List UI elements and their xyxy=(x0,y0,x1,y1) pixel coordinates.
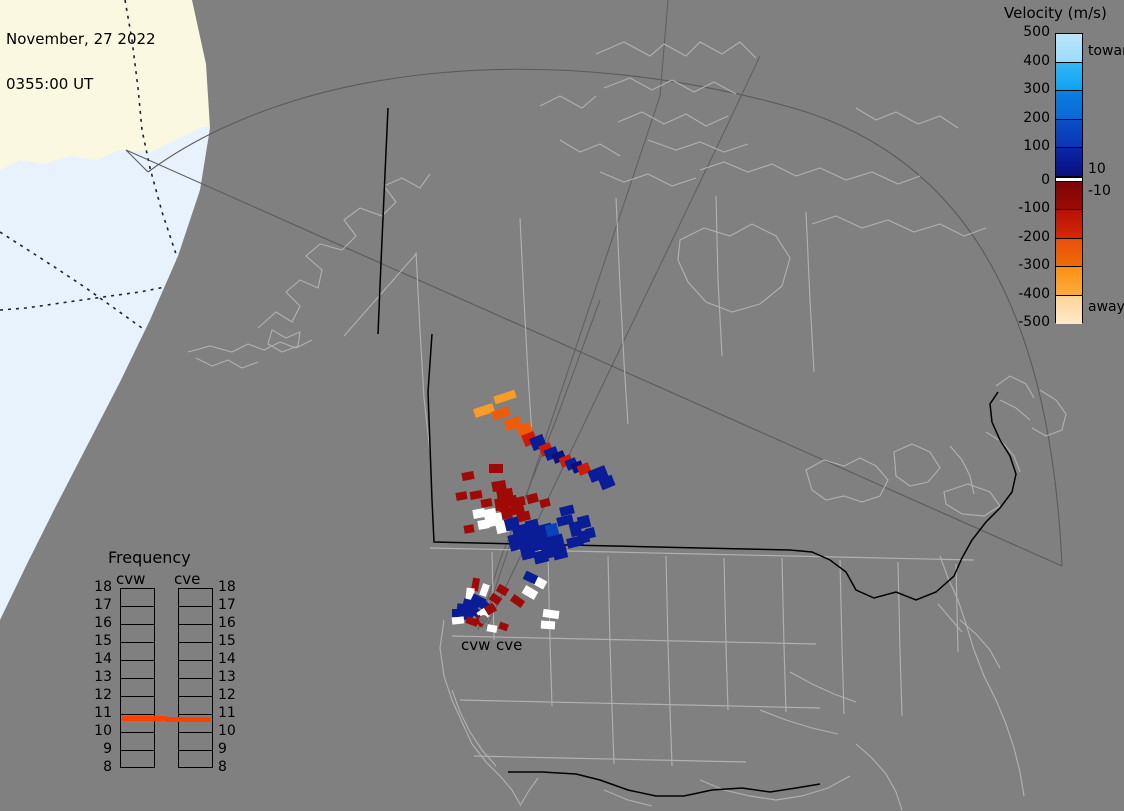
frequency-cell xyxy=(179,607,212,625)
velocity-band xyxy=(1056,296,1082,325)
velocity-gate xyxy=(496,584,510,596)
frequency-marker-cvw xyxy=(122,716,167,721)
velocity-band xyxy=(1056,34,1082,63)
frequency-cell xyxy=(121,733,154,751)
frequency-column-header-cve: cve xyxy=(174,570,200,588)
frequency-cell xyxy=(121,607,154,625)
velocity-tick-label: 500 xyxy=(998,24,1050,40)
frequency-cell xyxy=(179,751,212,769)
velocity-gate xyxy=(486,624,497,633)
velocity-colorbar-title: Velocity (m/s) xyxy=(1004,4,1107,22)
velocity-gate xyxy=(455,491,467,501)
frequency-tick-label-left: 14 xyxy=(90,651,112,667)
velocity-band xyxy=(1056,210,1082,239)
velocity-negative-threshold-label: -10 xyxy=(1088,183,1111,199)
frequency-tick-label-right: 16 xyxy=(218,615,240,631)
velocity-gate xyxy=(463,524,474,534)
frequency-legend-panel: Frequency cvwcve181817171616151514141313… xyxy=(80,548,250,780)
frequency-scale-cve xyxy=(178,588,213,768)
frequency-tick-label-right: 18 xyxy=(218,579,240,595)
velocity-tick-label: 300 xyxy=(998,81,1050,97)
velocity-tick-label: -200 xyxy=(998,229,1050,245)
frequency-cell xyxy=(179,697,212,715)
velocity-gate xyxy=(491,512,502,523)
radar-site-label-cve: cve xyxy=(496,636,522,654)
frequency-tick-label-right: 11 xyxy=(218,705,240,721)
frequency-tick-label-right: 13 xyxy=(218,669,240,685)
velocity-positive-threshold-label: 10 xyxy=(1088,161,1106,177)
velocity-tick-label: 0 xyxy=(998,172,1050,188)
frequency-scale-cvw xyxy=(120,588,155,768)
velocity-band xyxy=(1056,63,1082,92)
frequency-cell xyxy=(121,625,154,643)
frequency-tick-label-left: 8 xyxy=(90,759,112,775)
frequency-tick-label-right: 17 xyxy=(218,597,240,613)
radar-site-marker xyxy=(479,615,488,624)
velocity-gate xyxy=(541,621,556,630)
frequency-tick-label-right: 10 xyxy=(218,723,240,739)
frequency-cell xyxy=(179,643,212,661)
radar-velocity-map: November, 27 2022 0355:00 UT Velocity (m… xyxy=(0,0,1124,811)
timestamp-date: November, 27 2022 xyxy=(6,32,156,47)
velocity-tick-label: -300 xyxy=(998,257,1050,273)
frequency-cell xyxy=(179,625,212,643)
velocity-band xyxy=(1056,182,1082,211)
velocity-gate xyxy=(514,496,526,507)
velocity-tick-label: -400 xyxy=(998,286,1050,302)
frequency-column-header-cvw: cvw xyxy=(116,570,145,588)
velocity-gate xyxy=(552,545,568,560)
velocity-gate xyxy=(498,622,509,632)
timestamp-time: 0355:00 UT xyxy=(6,77,156,92)
velocity-band xyxy=(1056,148,1082,177)
velocity-tick-label: -100 xyxy=(998,200,1050,216)
velocity-tick-label: -500 xyxy=(998,314,1050,330)
frequency-tick-label-right: 8 xyxy=(218,759,240,775)
frequency-tick-label-left: 12 xyxy=(90,687,112,703)
frequency-cell xyxy=(121,697,154,715)
frequency-tick-label-left: 15 xyxy=(90,633,112,649)
velocity-gate xyxy=(480,498,492,508)
frequency-cell xyxy=(121,679,154,697)
frequency-tick-label-left: 10 xyxy=(90,723,112,739)
frequency-tick-label-left: 13 xyxy=(90,669,112,685)
frequency-tick-label-right: 15 xyxy=(218,633,240,649)
velocity-gate xyxy=(543,609,560,619)
velocity-gate xyxy=(452,616,465,624)
frequency-legend-title: Frequency xyxy=(108,548,191,567)
velocity-gate xyxy=(539,498,551,508)
frequency-marker-cve xyxy=(166,717,211,722)
velocity-gate xyxy=(533,549,549,564)
frequency-cell xyxy=(179,661,212,679)
frequency-cell xyxy=(179,589,212,607)
velocity-band xyxy=(1056,267,1082,296)
frequency-tick-label-left: 16 xyxy=(90,615,112,631)
frequency-tick-label-left: 18 xyxy=(90,579,112,595)
velocity-toward-label: toward xyxy=(1088,43,1124,59)
frequency-tick-label-right: 9 xyxy=(218,741,240,757)
velocity-gate xyxy=(479,583,490,597)
velocity-band xyxy=(1056,91,1082,120)
frequency-cell xyxy=(179,679,212,697)
velocity-tick-label: 100 xyxy=(998,138,1050,154)
velocity-tick-label: 200 xyxy=(998,110,1050,126)
velocity-gate xyxy=(585,527,596,539)
frequency-cell xyxy=(179,733,212,751)
velocity-gate xyxy=(522,585,539,600)
frequency-tick-label-left: 11 xyxy=(90,705,112,721)
velocity-band xyxy=(1056,239,1082,268)
frequency-tick-label-left: 17 xyxy=(90,597,112,613)
velocity-gate xyxy=(477,519,489,530)
velocity-gate xyxy=(493,390,516,404)
frequency-cell xyxy=(121,751,154,769)
velocity-gate xyxy=(559,504,575,516)
velocity-tick-label: 400 xyxy=(998,53,1050,69)
frequency-cell xyxy=(121,589,154,607)
velocity-colorbar-panel: Velocity (m/s) 5004003002001000-100-200-… xyxy=(962,0,1124,340)
velocity-gate xyxy=(461,471,474,481)
frequency-tick-label-right: 14 xyxy=(218,651,240,667)
velocity-colorbar xyxy=(1055,33,1083,323)
velocity-band xyxy=(1056,120,1082,149)
frequency-tick-label-left: 9 xyxy=(90,741,112,757)
velocity-away-label: away xyxy=(1088,299,1124,315)
frequency-cell xyxy=(121,643,154,661)
frequency-cell xyxy=(121,661,154,679)
radar-site-label-cvw: cvw xyxy=(461,636,490,654)
velocity-gate xyxy=(469,490,482,500)
velocity-gate xyxy=(526,493,539,504)
velocity-gate xyxy=(489,464,503,473)
velocity-gate xyxy=(510,594,525,608)
frequency-tick-label-right: 12 xyxy=(218,687,240,703)
timestamp-block: November, 27 2022 0355:00 UT xyxy=(6,2,156,122)
